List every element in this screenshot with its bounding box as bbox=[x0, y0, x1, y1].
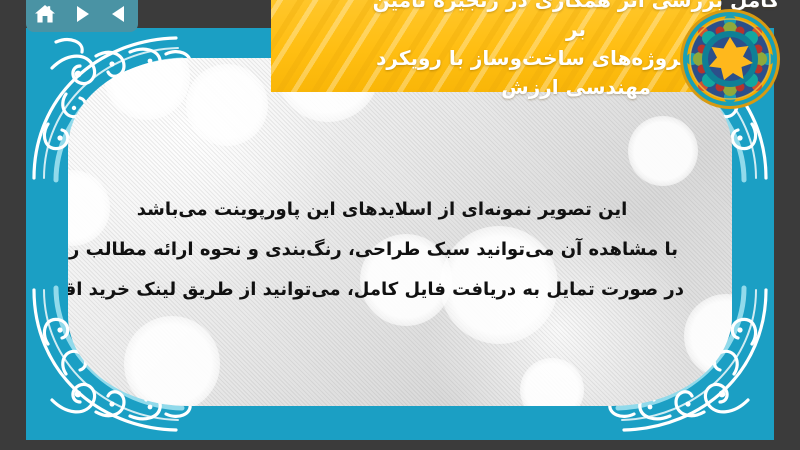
home-button[interactable] bbox=[31, 1, 59, 27]
back-button[interactable] bbox=[105, 1, 133, 27]
bokeh-circle bbox=[628, 116, 698, 186]
navigation-toolbar bbox=[26, 0, 138, 32]
bokeh-circle bbox=[186, 64, 268, 146]
body-line-3: در صورت تمایل به دریافت فایل کامل، می‌تو… bbox=[128, 270, 684, 310]
forward-button[interactable] bbox=[68, 1, 96, 27]
body-line-1: این تصویر نمونه‌ای از اسلایدهای این پاور… bbox=[128, 190, 684, 230]
persian-medallion-ornament-icon bbox=[678, 7, 782, 111]
slide-body-text: این تصویر نمونه‌ای از اسلایدهای این پاور… bbox=[128, 190, 684, 310]
home-icon bbox=[33, 3, 57, 25]
presentation-viewer: این تصویر نمونه‌ای از اسلایدهای این پاور… bbox=[0, 0, 800, 450]
forward-triangle-icon bbox=[71, 4, 93, 24]
bokeh-circle bbox=[124, 316, 220, 406]
slide-content-area: این تصویر نمونه‌ای از اسلایدهای این پاور… bbox=[68, 58, 732, 406]
bokeh-circle bbox=[520, 358, 584, 406]
bokeh-circle bbox=[684, 294, 732, 378]
back-triangle-icon bbox=[108, 4, 130, 24]
bokeh-circle bbox=[104, 58, 190, 120]
body-line-2: با مشاهده آن می‌توانید سبک طراحی، رنگ‌بن… bbox=[128, 230, 684, 270]
